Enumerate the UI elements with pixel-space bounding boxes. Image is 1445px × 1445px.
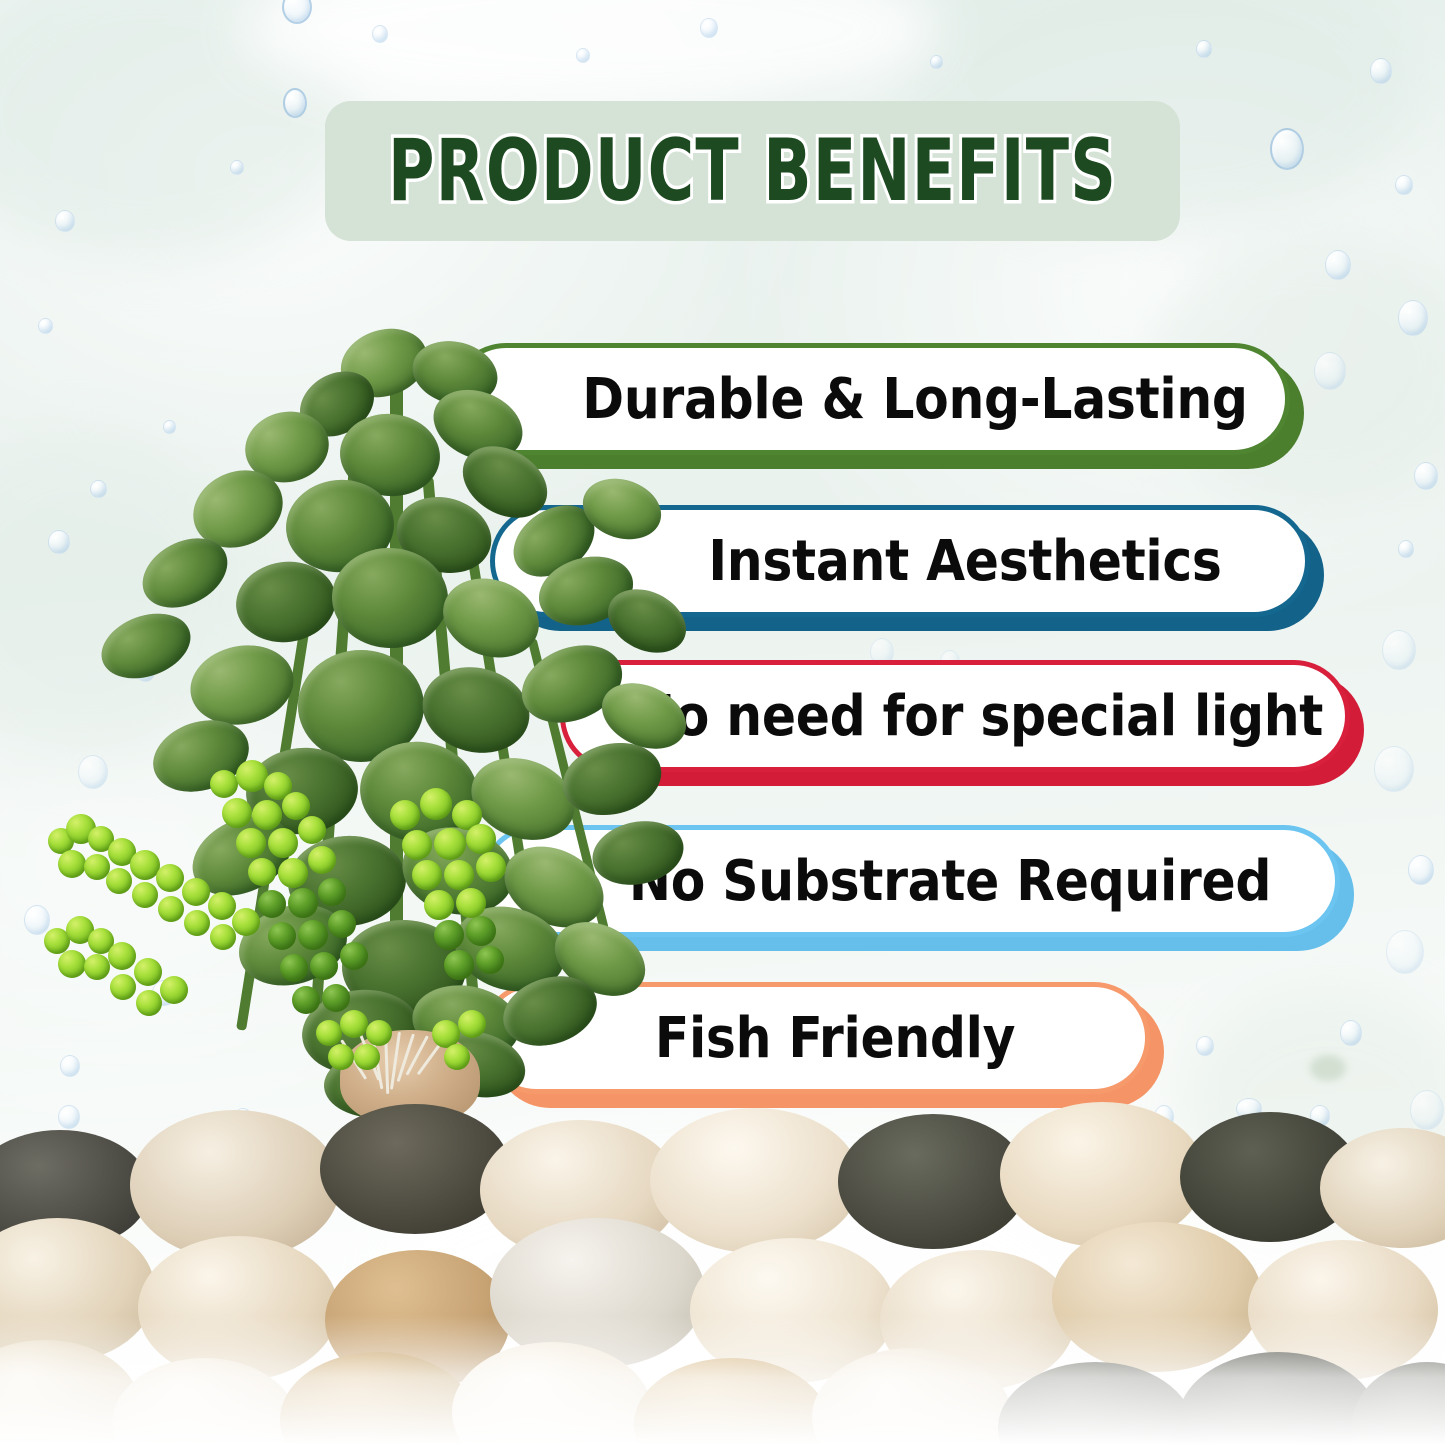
- pebble: [1052, 1222, 1262, 1372]
- product-plant-image: [40, 330, 680, 1130]
- plant-berry: [316, 1020, 342, 1046]
- plant-berry: [136, 990, 162, 1016]
- plant-berry: [236, 828, 266, 858]
- plant-berry: [444, 1044, 470, 1070]
- plant-berry: [308, 846, 336, 874]
- water-droplet: [1196, 1036, 1214, 1056]
- plant-berry: [476, 852, 506, 882]
- plant-leaf: [587, 813, 690, 893]
- plant-berry: [354, 1044, 380, 1070]
- plant-berry: [258, 890, 286, 918]
- water-droplet: [1196, 40, 1212, 58]
- plant-berry: [322, 984, 350, 1012]
- plant-berry: [298, 816, 326, 844]
- plant-berry: [184, 910, 210, 936]
- water-droplet: [1340, 1020, 1362, 1046]
- infographic-canvas: PRODUCT BENEFITS Durable & Long-Lasting …: [0, 0, 1445, 1445]
- water-droplet: [230, 160, 244, 175]
- pebble: [138, 1236, 338, 1381]
- plant-berry: [134, 958, 162, 986]
- water-droplet: [1386, 930, 1424, 974]
- plant-berry: [328, 1044, 354, 1070]
- plant-berry: [420, 788, 452, 820]
- plant-berry: [232, 908, 260, 936]
- water-droplet: [1270, 128, 1304, 170]
- plant-berry: [210, 924, 236, 950]
- water-droplet: [55, 210, 75, 232]
- pebble-bed: [0, 1090, 1445, 1445]
- plant-berry: [328, 910, 356, 938]
- plant-berry: [466, 916, 496, 946]
- water-droplet: [1414, 462, 1438, 490]
- plant-berry: [182, 878, 210, 906]
- plant-berry: [268, 828, 298, 858]
- plant-berry: [310, 952, 338, 980]
- water-droplet: [1370, 58, 1392, 84]
- plant-berry: [466, 824, 496, 854]
- plant-berry: [366, 1020, 392, 1046]
- water-droplet: [1398, 540, 1414, 558]
- plant-berry: [444, 860, 474, 890]
- plant-berry: [434, 920, 464, 950]
- water-droplet: [930, 55, 943, 69]
- plant-berry: [252, 800, 282, 830]
- water-droplet: [1314, 352, 1346, 390]
- plant-berry: [210, 770, 238, 798]
- plant-berry: [280, 954, 308, 982]
- plant-berry: [292, 986, 320, 1014]
- water-droplet: [700, 18, 718, 38]
- benefit-label-3: No need for special light: [587, 684, 1323, 749]
- plant-berry: [288, 888, 318, 918]
- plant-berry: [58, 850, 86, 878]
- plant-berry: [268, 922, 296, 950]
- plant-leaf: [183, 636, 301, 734]
- plant-berry: [208, 892, 236, 920]
- title-banner: PRODUCT BENEFITS: [325, 101, 1180, 241]
- plant-berry: [298, 920, 328, 950]
- plant-berry: [106, 868, 132, 894]
- plant-berry: [458, 1010, 486, 1038]
- bg-speckle: [1310, 1055, 1346, 1081]
- plant-berry: [412, 860, 442, 890]
- plant-berry: [84, 954, 110, 980]
- water-droplet: [1325, 250, 1351, 280]
- plant-berry: [58, 950, 86, 978]
- pebble: [650, 1108, 860, 1253]
- plant-berry: [108, 942, 136, 970]
- plant-berry: [248, 858, 276, 886]
- water-droplet: [372, 25, 388, 43]
- plant-berry: [278, 858, 308, 888]
- water-droplet: [1382, 630, 1416, 670]
- plant-berry: [434, 828, 466, 860]
- plant-berry: [476, 946, 504, 974]
- plant-berry: [158, 896, 184, 922]
- water-droplet: [1398, 300, 1428, 336]
- water-droplet: [1395, 175, 1413, 195]
- water-droplet: [1408, 855, 1434, 885]
- plant-berry: [156, 864, 184, 892]
- plant-leaf: [93, 602, 200, 690]
- plant-berry: [444, 950, 474, 980]
- plant-berry: [390, 800, 420, 830]
- plant-berry: [318, 878, 346, 906]
- plant-berry: [160, 976, 188, 1004]
- water-droplet: [576, 48, 590, 63]
- plant-berry: [402, 830, 432, 860]
- water-droplet: [283, 88, 307, 118]
- plant-berry: [456, 888, 486, 918]
- plant-berry: [132, 882, 158, 908]
- plant-berry: [222, 798, 252, 828]
- water-droplet: [1374, 746, 1414, 792]
- plant-berry: [340, 1010, 368, 1038]
- page-title: PRODUCT BENEFITS: [388, 121, 1117, 221]
- plant-berry: [424, 890, 454, 920]
- plant-berry: [110, 974, 136, 1000]
- plant-berry: [340, 942, 368, 970]
- plant-berry: [282, 792, 310, 820]
- pebble: [320, 1104, 510, 1234]
